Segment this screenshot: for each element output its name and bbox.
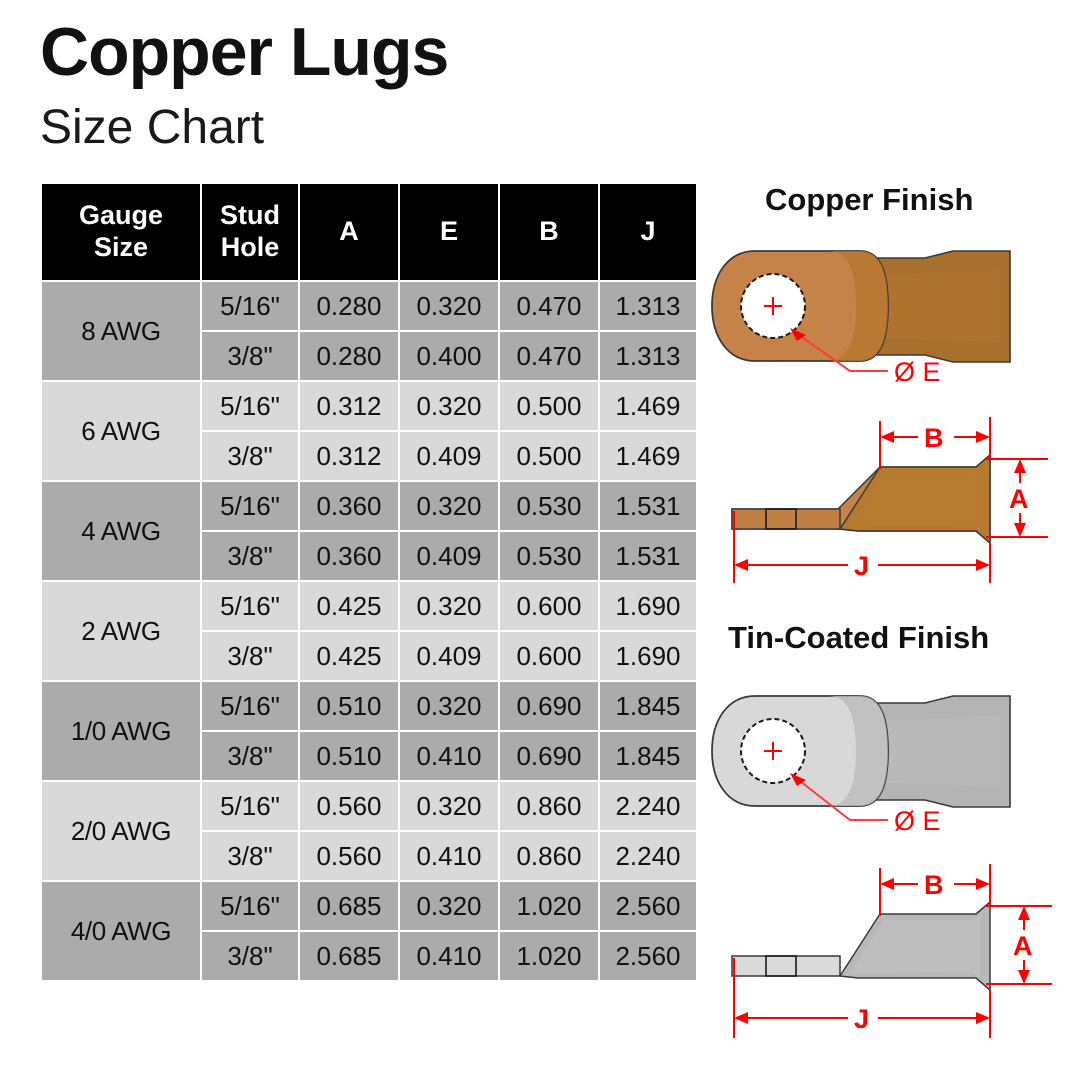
tin-barrel-waist (885, 716, 1000, 787)
cell-gauge-size: 2/0 AWG (42, 782, 200, 880)
cell-stud-hole: 5/16" (202, 482, 298, 530)
cell-b: 0.470 (500, 282, 598, 330)
cell-gauge-size: 4/0 AWG (42, 882, 200, 980)
dimension-b-arrow-right (976, 878, 990, 890)
cell-stud-hole: 5/16" (202, 282, 298, 330)
cell-stud-hole: 3/8" (202, 332, 298, 380)
table-row: 6 AWG5/16"0.3120.3200.5001.469 (42, 382, 696, 430)
column-header-b: B (500, 184, 598, 280)
dimension-a-arrow-top (1014, 459, 1026, 473)
cell-gauge-size: 4 AWG (42, 482, 200, 580)
cell-e: 0.320 (400, 482, 498, 530)
dimension-j-label: J (854, 1004, 869, 1034)
cell-e: 0.410 (400, 832, 498, 880)
cell-j: 1.845 (600, 732, 696, 780)
dimension-j-arrow-right (976, 1012, 990, 1024)
cell-j: 2.560 (600, 932, 696, 980)
cell-b: 0.690 (500, 732, 598, 780)
cell-j: 2.560 (600, 882, 696, 930)
dimension-b-arrow-left (880, 878, 894, 890)
cell-e: 0.400 (400, 332, 498, 380)
dimension-j-arrow-left (734, 559, 748, 571)
page-subtitle: Size Chart (40, 104, 264, 152)
size-chart-table-wrapper: Gauge Size Stud Hole A E B J 8 AWG5/16"0… (40, 182, 686, 982)
cell-b: 1.020 (500, 932, 598, 980)
tin-side-barrel-highlight (850, 914, 980, 978)
dimension-a-label: A (1009, 484, 1029, 514)
dimension-a-arrow-bottom (1018, 970, 1030, 984)
table-header-row: Gauge Size Stud Hole A E B J (42, 184, 696, 280)
cell-stud-hole: 3/8" (202, 732, 298, 780)
table-header: Gauge Size Stud Hole A E B J (42, 184, 696, 280)
cell-j: 1.469 (600, 432, 696, 480)
cell-e: 0.410 (400, 732, 498, 780)
column-header-stud-line1: Stud (202, 200, 298, 232)
cell-stud-hole: 3/8" (202, 632, 298, 680)
cell-e: 0.409 (400, 432, 498, 480)
cell-e: 0.409 (400, 532, 498, 580)
dimension-a-label: A (1013, 931, 1033, 961)
dimension-j-arrow-left (734, 1012, 748, 1024)
copper-lug-side-view-diagram: B A J (728, 415, 1080, 590)
table-row: 8 AWG5/16"0.2800.3200.4701.313 (42, 282, 696, 330)
cell-b: 0.600 (500, 582, 598, 630)
cell-b: 0.470 (500, 332, 598, 380)
table-row: 2/0 AWG5/16"0.5600.3200.8602.240 (42, 782, 696, 830)
cell-stud-hole: 3/8" (202, 432, 298, 480)
cell-a: 0.280 (300, 282, 398, 330)
cell-j: 1.313 (600, 332, 696, 380)
cell-e: 0.409 (400, 632, 498, 680)
cell-gauge-size: 8 AWG (42, 282, 200, 380)
cell-b: 0.530 (500, 482, 598, 530)
copper-barrel-waist (885, 271, 1000, 342)
cell-a: 0.280 (300, 332, 398, 380)
column-header-gauge-line1: Gauge (42, 200, 200, 232)
copper-finish-title: Copper Finish (765, 182, 973, 218)
cell-e: 0.320 (400, 882, 498, 930)
cell-a: 0.360 (300, 482, 398, 530)
tin-lug-side-view-diagram: B A J (728, 862, 1080, 1047)
dimension-a-arrow-top (1018, 906, 1030, 920)
cell-a: 0.685 (300, 882, 398, 930)
copper-side-flat-pad (732, 509, 840, 529)
cell-j: 2.240 (600, 782, 696, 830)
column-header-j: J (600, 184, 696, 280)
dimension-b-label: B (924, 423, 944, 453)
cell-a: 0.425 (300, 582, 398, 630)
cell-j: 1.531 (600, 482, 696, 530)
cell-gauge-size: 6 AWG (42, 382, 200, 480)
dimension-a-arrow-bottom (1014, 523, 1026, 537)
cell-gauge-size: 2 AWG (42, 582, 200, 680)
table-row: 4/0 AWG5/16"0.6850.3201.0202.560 (42, 882, 696, 930)
cell-stud-hole: 5/16" (202, 582, 298, 630)
tin-coated-finish-title: Tin-Coated Finish (728, 620, 989, 656)
diameter-e-label: Ø E (894, 806, 941, 836)
cell-j: 1.469 (600, 382, 696, 430)
size-chart-page: Copper Lugs Size Chart Gauge Size Stud H… (0, 0, 1080, 1080)
tin-lug-top-view-diagram: Ø E (710, 690, 1080, 850)
table-row: 1/0 AWG5/16"0.5100.3200.6901.845 (42, 682, 696, 730)
cell-b: 0.860 (500, 782, 598, 830)
cell-stud-hole: 5/16" (202, 882, 298, 930)
cell-a: 0.560 (300, 782, 398, 830)
cell-j: 1.531 (600, 532, 696, 580)
cell-b: 0.530 (500, 532, 598, 580)
cell-e: 0.320 (400, 782, 498, 830)
cell-stud-hole: 3/8" (202, 532, 298, 580)
cell-b: 0.500 (500, 432, 598, 480)
column-header-gauge-size: Gauge Size (42, 184, 200, 280)
cell-b: 0.600 (500, 632, 598, 680)
dimension-b-label: B (924, 870, 944, 900)
cell-e: 0.410 (400, 932, 498, 980)
table-body: 8 AWG5/16"0.2800.3200.4701.3133/8"0.2800… (42, 282, 696, 980)
cell-stud-hole: 5/16" (202, 782, 298, 830)
size-chart-table: Gauge Size Stud Hole A E B J 8 AWG5/16"0… (40, 182, 698, 982)
column-header-a: A (300, 184, 398, 280)
cell-e: 0.320 (400, 682, 498, 730)
cell-gauge-size: 1/0 AWG (42, 682, 200, 780)
cell-a: 0.425 (300, 632, 398, 680)
cell-a: 0.510 (300, 682, 398, 730)
cell-a: 0.685 (300, 932, 398, 980)
cell-a: 0.510 (300, 732, 398, 780)
column-header-e: E (400, 184, 498, 280)
cell-b: 0.690 (500, 682, 598, 730)
cell-j: 1.313 (600, 282, 696, 330)
page-title: Copper Lugs (40, 18, 448, 86)
cell-e: 0.320 (400, 582, 498, 630)
cell-stud-hole: 3/8" (202, 832, 298, 880)
dimension-b-arrow-right (976, 431, 990, 443)
cell-a: 0.560 (300, 832, 398, 880)
cell-j: 1.690 (600, 632, 696, 680)
cell-stud-hole: 5/16" (202, 682, 298, 730)
cell-j: 1.845 (600, 682, 696, 730)
cell-b: 1.020 (500, 882, 598, 930)
diameter-e-label: Ø E (894, 357, 941, 387)
column-header-stud-line2: Hole (202, 232, 298, 264)
cell-a: 0.360 (300, 532, 398, 580)
cell-stud-hole: 5/16" (202, 382, 298, 430)
table-row: 4 AWG5/16"0.3600.3200.5301.531 (42, 482, 696, 530)
dimension-b-arrow-left (880, 431, 894, 443)
tin-side-flat-pad (732, 956, 840, 976)
cell-e: 0.320 (400, 382, 498, 430)
table-row: 2 AWG5/16"0.4250.3200.6001.690 (42, 582, 696, 630)
cell-e: 0.320 (400, 282, 498, 330)
cell-a: 0.312 (300, 432, 398, 480)
cell-b: 0.500 (500, 382, 598, 430)
cell-a: 0.312 (300, 382, 398, 430)
cell-j: 1.690 (600, 582, 696, 630)
cell-j: 2.240 (600, 832, 696, 880)
cell-stud-hole: 3/8" (202, 932, 298, 980)
copper-lug-top-view-diagram: Ø E (710, 245, 1080, 395)
dimension-j-arrow-right (976, 559, 990, 571)
column-header-stud-hole: Stud Hole (202, 184, 298, 280)
cell-b: 0.860 (500, 832, 598, 880)
column-header-gauge-line2: Size (42, 232, 200, 264)
dimension-j-label: J (854, 551, 869, 581)
